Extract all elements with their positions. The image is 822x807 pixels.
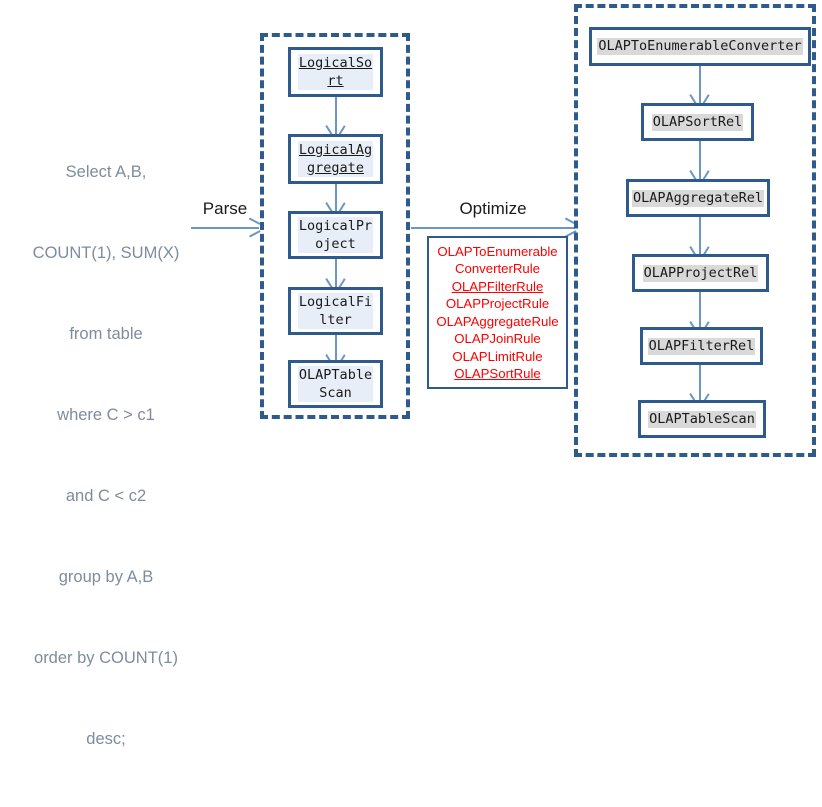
physical-connector-5 (693, 365, 706, 402)
sql-line: order by COUNT(1) (8, 645, 204, 672)
node-label: OLAPFilterRel (648, 338, 756, 355)
node-label: OLAPTable Scan (298, 366, 373, 402)
physical-node-olaptoenumerableconverter[interactable]: OLAPToEnumerableConverter (589, 27, 811, 66)
logical-connector-4 (329, 335, 342, 363)
physical-node-olapprojectrel[interactable]: OLAPProjectRel (632, 254, 769, 292)
physical-connector-3 (693, 217, 706, 255)
node-label: LogicalSo rt (298, 54, 373, 90)
diagram-canvas: Select A,B, COUNT(1), SUM(X) from table … (0, 0, 822, 462)
sql-line: Select A,B, (8, 159, 204, 186)
physical-node-olapaggregaterel[interactable]: OLAPAggregateRel (626, 179, 770, 217)
rule-item: OLAPJoinRule (454, 330, 541, 348)
physical-connector-1 (693, 66, 706, 103)
node-label: OLAPSortRel (652, 114, 743, 131)
rule-item: OLAPAggregateRule (436, 313, 558, 331)
rule-item: OLAPProjectRule (446, 295, 549, 313)
sql-line: COUNT(1), SUM(X) (8, 240, 204, 267)
sql-line: group by A,B (8, 564, 204, 591)
node-label: OLAPToEnumerableConverter (597, 38, 802, 55)
logical-connector-3 (329, 259, 342, 287)
logical-connector-1 (329, 97, 342, 134)
rule-item: OLAPLimitRule (452, 348, 542, 366)
arrow-head-icon (250, 222, 259, 233)
arrow-head-icon (694, 94, 705, 103)
arrow-head-icon (694, 170, 705, 179)
arrow-head-icon (330, 278, 341, 287)
sql-line: where C > c1 (8, 402, 204, 429)
arrow-head-icon (330, 125, 341, 134)
node-label: OLAPAggregateRel (632, 190, 764, 207)
node-label: OLAPProjectRel (643, 265, 759, 282)
arrow-shaft (191, 227, 259, 229)
physical-node-olaptablescan[interactable]: OLAPTableScan (638, 400, 766, 438)
rule-item: ConverterRule (455, 260, 540, 278)
logical-connector-2 (329, 184, 342, 211)
parse-stage-label: Parse (191, 199, 259, 219)
logical-node-logicalproject[interactable]: LogicalPr oject (288, 211, 383, 259)
node-label: LogicalFi lter (298, 293, 373, 329)
node-label: LogicalAg gregate (298, 141, 373, 177)
parse-arrow (191, 221, 259, 234)
logical-node-logicalfilter[interactable]: LogicalFi lter (288, 287, 383, 335)
sql-line: desc; (8, 726, 204, 753)
logical-node-logicalsort[interactable]: LogicalSo rt (288, 47, 383, 97)
rule-item: OLAPFilterRule (452, 278, 544, 296)
rule-item: OLAPSortRule (454, 365, 541, 383)
sql-query-text: Select A,B, COUNT(1), SUM(X) from table … (8, 105, 204, 807)
arrow-head-icon (330, 202, 341, 211)
optimize-stage-label: Optimize (411, 199, 575, 219)
optimize-arrow (411, 221, 575, 234)
optimizer-rules-box: OLAPToEnumerable ConverterRule OLAPFilte… (427, 236, 568, 389)
node-label: LogicalPr oject (298, 217, 373, 253)
physical-connector-4 (693, 292, 706, 330)
logical-node-logicalaggregate[interactable]: LogicalAg gregate (288, 134, 383, 184)
sql-line: and C < c2 (8, 483, 204, 510)
physical-connector-2 (693, 141, 706, 179)
arrow-shaft (411, 227, 575, 229)
physical-node-olapfilterrel[interactable]: OLAPFilterRel (640, 327, 763, 365)
logical-node-olaptablescan[interactable]: OLAPTable Scan (288, 360, 383, 408)
physical-node-olapsortrel[interactable]: OLAPSortRel (641, 103, 754, 141)
rule-item: OLAPToEnumerable (437, 243, 557, 261)
node-label: OLAPTableScan (648, 411, 756, 428)
sql-line: from table (8, 321, 204, 348)
